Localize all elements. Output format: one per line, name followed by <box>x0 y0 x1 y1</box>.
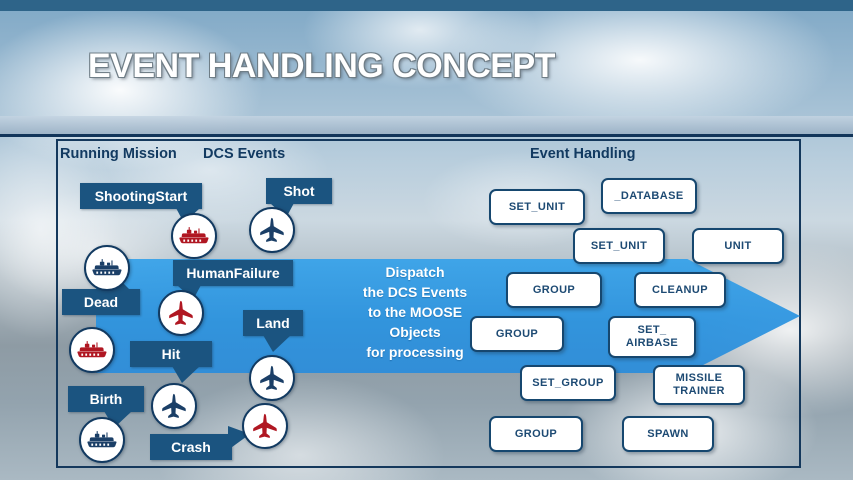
handler-box--database[interactable]: _DATABASE <box>601 178 697 214</box>
handler-box-cleanup[interactable]: CLEANUP <box>634 272 726 308</box>
event-label-text: Shot <box>283 183 314 199</box>
handler-box-label: SET_GROUP <box>532 377 603 390</box>
column-header-event-handling: Event Handling <box>530 146 636 162</box>
red-jet-icon <box>242 403 288 449</box>
callout-tail <box>172 366 200 383</box>
red-ship-icon <box>69 327 115 373</box>
handler-box-label: _DATABASE <box>614 190 683 203</box>
header-rule <box>0 134 853 137</box>
handler-box-label: GROUP <box>496 328 538 341</box>
slide-title: EVENT HANDLING CONCEPT <box>88 47 555 86</box>
handler-box-missile-trainer[interactable]: MISSILETRAINER <box>653 365 745 405</box>
handler-box-label: SET_AIRBASE <box>626 324 678 350</box>
top-accent-bar <box>0 0 853 11</box>
handler-box-set--airbase[interactable]: SET_AIRBASE <box>608 316 696 358</box>
header-band <box>0 116 853 136</box>
callout-tail <box>263 335 291 352</box>
dispatch-arrow-line: for processing <box>340 342 490 362</box>
event-label-crash[interactable]: Crash <box>150 434 232 460</box>
navy-ship-icon <box>84 245 130 291</box>
handler-box-label: SET_UNIT <box>509 201 565 214</box>
event-label-birth[interactable]: Birth <box>68 386 144 412</box>
handler-box-group[interactable]: GROUP <box>506 272 602 308</box>
handler-box-label: UNIT <box>724 240 751 253</box>
event-label-text: Crash <box>171 439 211 455</box>
navy-jet-icon <box>249 355 295 401</box>
handler-box-set-group[interactable]: SET_GROUP <box>520 365 616 401</box>
handler-box-label: GROUP <box>515 428 557 441</box>
dispatch-arrow-line: the DCS Events <box>340 282 490 302</box>
handler-box-label: CLEANUP <box>652 284 708 297</box>
event-label-shootingstart[interactable]: ShootingStart <box>80 183 202 209</box>
handler-box-unit[interactable]: UNIT <box>692 228 784 264</box>
handler-box-label: SET_UNIT <box>591 240 647 253</box>
handler-box-spawn[interactable]: SPAWN <box>622 416 714 452</box>
handler-box-label: GROUP <box>533 284 575 297</box>
handler-box-label: SPAWN <box>647 428 689 441</box>
event-label-text: Hit <box>162 346 181 362</box>
event-label-dead[interactable]: Dead <box>62 289 140 315</box>
column-header-running-mission: Running Mission <box>60 146 177 162</box>
event-label-land[interactable]: Land <box>243 310 303 336</box>
navy-jet-icon <box>249 207 295 253</box>
event-label-text: Birth <box>90 391 123 407</box>
dispatch-arrow-line: to the MOOSE <box>340 302 490 322</box>
dispatch-arrow-line: Dispatch <box>340 262 490 282</box>
event-label-text: Dead <box>84 294 118 310</box>
column-header-dcs-events: DCS Events <box>203 146 285 162</box>
event-label-humanfailure[interactable]: HumanFailure <box>173 260 293 286</box>
navy-ship-icon <box>79 417 125 463</box>
event-label-text: Land <box>256 315 289 331</box>
handler-box-set-unit[interactable]: SET_UNIT <box>489 189 585 225</box>
navy-jet-icon <box>151 383 197 429</box>
red-ship-icon <box>171 213 217 259</box>
slide-canvas: EVENT HANDLING CONCEPT Running Mission D… <box>0 0 853 480</box>
event-label-text: HumanFailure <box>186 265 279 281</box>
handler-box-set-unit[interactable]: SET_UNIT <box>573 228 665 264</box>
dispatch-arrow-text: Dispatchthe DCS Eventsto the MOOSEObject… <box>340 262 490 362</box>
event-label-hit[interactable]: Hit <box>130 341 212 367</box>
handler-box-label: MISSILETRAINER <box>673 372 725 398</box>
event-label-shot[interactable]: Shot <box>266 178 332 204</box>
red-jet-icon <box>158 290 204 336</box>
event-label-text: ShootingStart <box>95 188 188 204</box>
handler-box-group[interactable]: GROUP <box>489 416 583 452</box>
handler-box-group[interactable]: GROUP <box>470 316 564 352</box>
dispatch-arrow-line: Objects <box>340 322 490 342</box>
